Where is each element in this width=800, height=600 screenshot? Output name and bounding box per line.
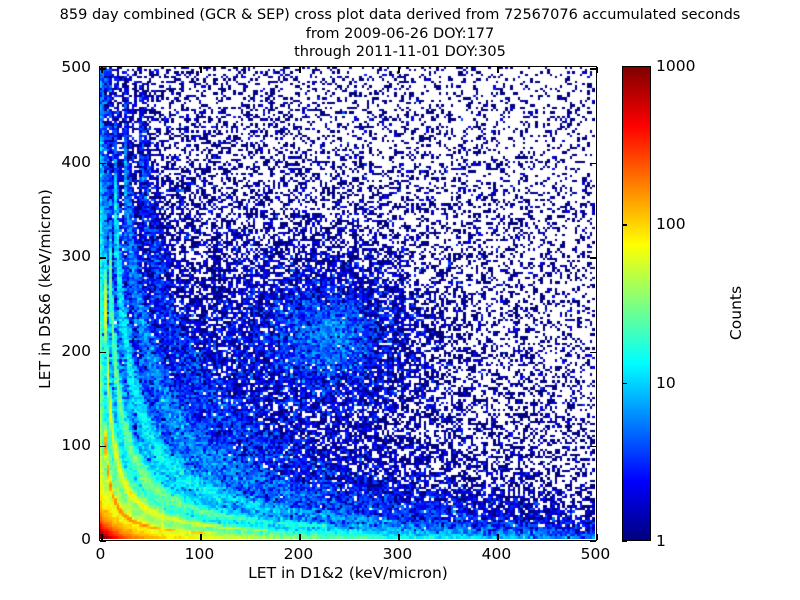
x-tick-label-400: 400 — [482, 545, 512, 563]
y-tick-right-400 — [590, 163, 596, 164]
y-tick-200 — [100, 352, 106, 353]
colorbar-tick-100 — [622, 224, 627, 225]
y-tick-500 — [100, 68, 106, 69]
y-tick-100 — [100, 446, 106, 447]
y-tick-right-300 — [590, 257, 596, 258]
colorbar-tick-1 — [622, 541, 627, 542]
colorbar-label-100: 100 — [656, 215, 686, 233]
y-tick-right-200 — [590, 352, 596, 353]
x-tick-0 — [101, 534, 102, 540]
colorbar-gradient — [622, 66, 651, 541]
x-tick-label-300: 300 — [383, 545, 413, 563]
colorbar-label-1000: 1000 — [656, 57, 695, 75]
figure-canvas: 859 day combined (GCR & SEP) cross plot … — [0, 0, 800, 600]
title-line-1: 859 day combined (GCR & SEP) cross plot … — [0, 6, 800, 25]
colorbar-label-10: 10 — [656, 374, 676, 392]
x-tick-label-0: 0 — [95, 545, 105, 563]
x-tick-300 — [398, 534, 399, 540]
y-tick-300 — [100, 257, 106, 258]
colorbar-tick-1000 — [622, 66, 627, 67]
x-tick-200 — [299, 534, 300, 540]
figure-title: 859 day combined (GCR & SEP) cross plot … — [0, 6, 800, 62]
plot-axes — [99, 66, 597, 541]
colorbar-title: Counts — [727, 243, 745, 383]
x-tick-100 — [200, 534, 201, 540]
y-tick-right-100 — [590, 446, 596, 447]
x-tick-500 — [596, 534, 597, 540]
x-tick-top-400 — [497, 67, 498, 73]
histogram-heatmap — [100, 67, 595, 539]
colorbar-tick-10 — [622, 383, 627, 384]
x-tick-400 — [497, 534, 498, 540]
y-tick-400 — [100, 163, 106, 164]
y-tick-right-500 — [590, 68, 596, 69]
x-tick-top-200 — [299, 67, 300, 73]
colorbar — [622, 66, 651, 541]
y-tick-label-0: 0 — [41, 530, 91, 548]
colorbar-label-1: 1 — [656, 532, 666, 550]
x-tick-top-500 — [596, 67, 597, 73]
y-axis-label: LET in D5&6 (keV/micron) — [36, 169, 54, 409]
y-tick-label-100: 100 — [41, 436, 91, 454]
x-tick-label-200: 200 — [284, 545, 314, 563]
y-tick-0 — [100, 540, 106, 541]
y-tick-right-0 — [590, 540, 596, 541]
title-line-2: from 2009-06-26 DOY:177 — [0, 25, 800, 44]
x-tick-label-100: 100 — [185, 545, 215, 563]
x-tick-top-100 — [200, 67, 201, 73]
x-tick-top-300 — [398, 67, 399, 73]
y-tick-label-500: 500 — [41, 58, 91, 76]
x-tick-label-500: 500 — [581, 545, 611, 563]
x-axis-label: LET in D1&2 (keV/micron) — [99, 564, 597, 582]
